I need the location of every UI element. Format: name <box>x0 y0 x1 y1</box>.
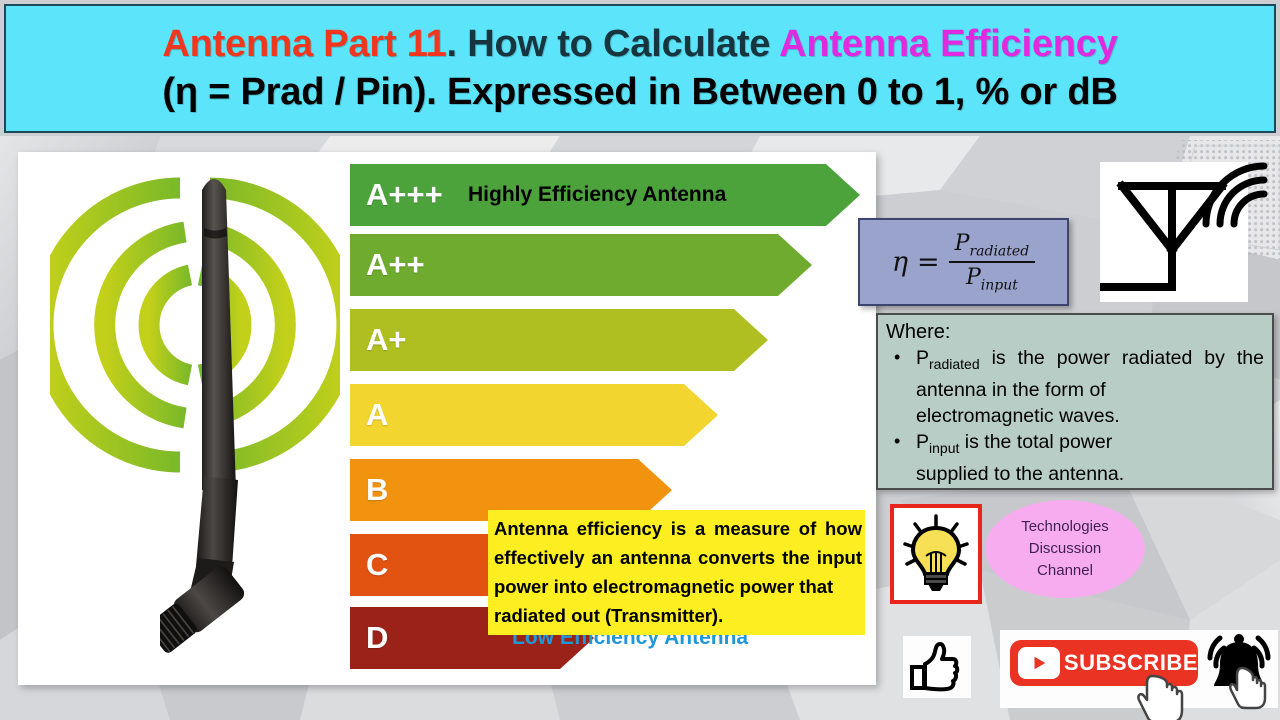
bar-grade-label: C <box>350 547 388 583</box>
slide-content-panel: A+++ Highly Efficiency Antenna A++ A+ A … <box>18 152 876 685</box>
title-banner: Antenna Part 11. How to Calculate Antenn… <box>4 4 1276 133</box>
lightbulb-icon <box>901 514 971 594</box>
term-subscript: radiated <box>929 356 980 372</box>
bar-row: D Low Efficiency Antenna <box>350 607 388 669</box>
list-item: Pradiated is the power radiated by the a… <box>886 345 1264 429</box>
term-subscript: input <box>929 440 959 456</box>
bar-shape <box>350 309 768 371</box>
denominator-subscript: input <box>981 277 1018 293</box>
bar-grade-label: D <box>350 620 388 656</box>
bar-grade-label: A+ <box>350 322 407 358</box>
eta-symbol: η <box>892 247 908 278</box>
callout-text-box: Antenna efficiency is a measure of how e… <box>488 510 865 635</box>
notification-bell-icon[interactable] <box>1196 628 1280 712</box>
where-list: Pradiated is the power radiated by the a… <box>886 345 1264 487</box>
hand-cursor-icon <box>1136 668 1196 720</box>
bar-grade-label: B <box>350 472 388 508</box>
where-title: Where: <box>886 320 1264 345</box>
term-base: P <box>916 347 929 369</box>
list-item: Pinput is the total powersupplied to the… <box>886 429 1264 487</box>
bar-caption-high: Highly Efficiency Antenna <box>468 183 726 207</box>
title-line-2: (η = Prad / Pin). Expressed in Between 0… <box>162 67 1117 117</box>
efficiency-formula-box: η = Pradiated Pinput <box>858 218 1069 306</box>
radio-wave-icon <box>1198 152 1280 232</box>
play-triangle-icon <box>1030 654 1048 672</box>
numerator-base: P <box>955 231 970 256</box>
bar-row: A <box>350 384 388 446</box>
channel-logo-card <box>890 504 982 604</box>
physical-antenna-photo <box>160 160 280 660</box>
bar-grade-label: A <box>350 397 388 433</box>
formula-numerator: Pradiated <box>949 231 1036 260</box>
definition-tail: supplied to the antenna. <box>916 461 1264 487</box>
where-definitions-box: Where: Pradiated is the power radiated b… <box>876 313 1274 490</box>
bar-row: B <box>350 459 388 521</box>
term-base: P <box>916 431 929 453</box>
callout-text: Antenna efficiency is a measure of how e… <box>494 518 862 597</box>
like-button-card[interactable] <box>903 636 971 698</box>
channel-line-1: Technologies <box>1021 516 1109 538</box>
definition-text: is the total power <box>959 431 1112 453</box>
thumbs-up-icon[interactable] <box>909 641 965 693</box>
title-part-topic: Antenna Efficiency <box>779 23 1117 65</box>
formula-denominator: Pinput <box>960 263 1024 293</box>
callout-text-last-line: radiated out (Transmitter). <box>494 601 862 630</box>
channel-line-3: Channel <box>1037 560 1093 582</box>
bar-row: A++ <box>350 234 425 296</box>
formula-fraction: Pradiated Pinput <box>949 231 1036 293</box>
numerator-subscript: radiated <box>969 244 1029 260</box>
channel-line-2: Discussion <box>1029 538 1102 560</box>
denominator-base: P <box>966 265 981 290</box>
channel-name-badge: Technologies Discussion Channel <box>985 500 1145 598</box>
definition-tail: electromagnetic waves. <box>916 403 1264 429</box>
title-line-1: Antenna Part 11. How to Calculate Antenn… <box>162 21 1117 67</box>
bar-row: A+ <box>350 309 407 371</box>
title-part-question: . How to Calculate <box>447 23 780 65</box>
bar-row: A+++ Highly Efficiency Antenna <box>350 164 443 226</box>
equals-symbol: = <box>917 247 940 278</box>
bar-shape <box>350 384 718 446</box>
play-badge <box>1018 647 1060 679</box>
antenna-illustration <box>40 160 350 680</box>
bar-grade-label: A+++ <box>350 177 443 213</box>
bar-row: C <box>350 534 388 596</box>
bar-grade-label: A++ <box>350 247 425 283</box>
title-part-series: Antenna Part 11 <box>162 23 446 65</box>
